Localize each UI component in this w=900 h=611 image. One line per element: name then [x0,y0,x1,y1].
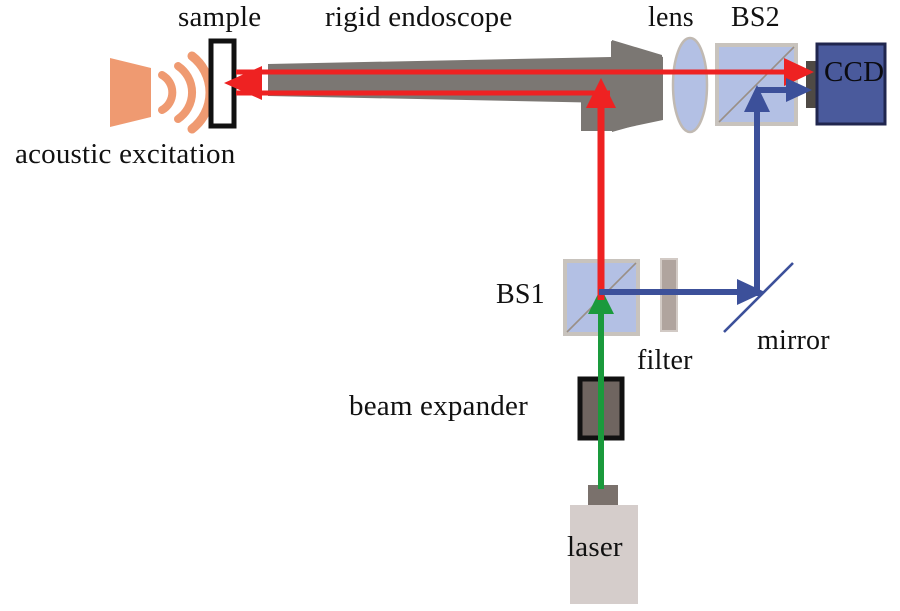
label-ccd: CCD [824,58,884,87]
label-laser: laser [567,533,623,562]
label-bs2: BS2 [731,4,780,32]
label-lens: lens [648,4,694,32]
optical-setup-diagram: sample rigid endoscope lens BS2 CCD acou… [0,0,900,611]
label-mirror: mirror [757,327,830,355]
label-beam-expander: beam expander [349,392,528,421]
acoustic-transducer-icon [110,56,210,129]
label-filter: filter [637,347,693,375]
label-rigid-endoscope: rigid endoscope [325,3,512,32]
label-acoustic-excitation: acoustic excitation [15,140,235,169]
diagram-canvas [0,0,900,611]
lens-ellipse [673,38,707,132]
label-bs1: BS1 [496,281,545,309]
label-sample: sample [178,3,261,32]
